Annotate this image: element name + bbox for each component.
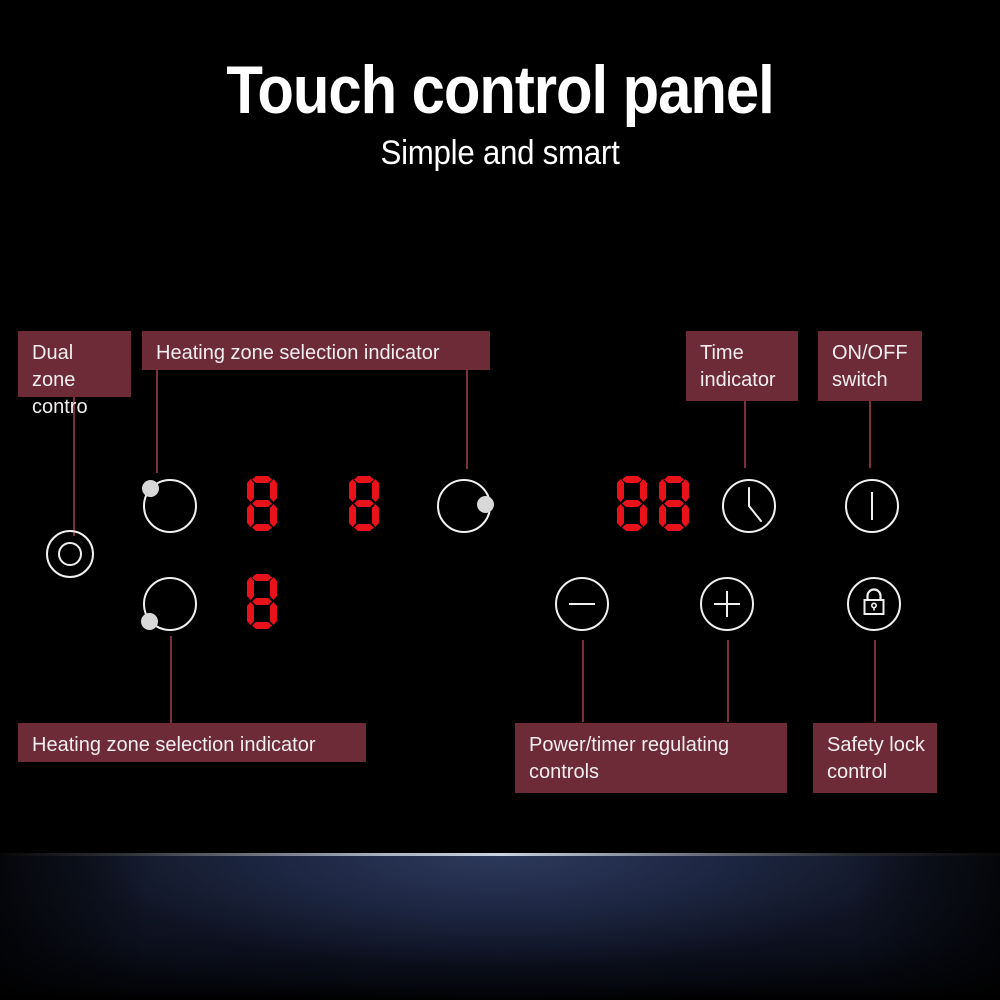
segment-f bbox=[617, 479, 624, 502]
timer-display: 88 bbox=[616, 476, 690, 530]
on-off-switch-button[interactable] bbox=[845, 479, 899, 533]
page-title: Touch control panel bbox=[60, 56, 940, 124]
cooktop-shade-right bbox=[850, 856, 1000, 1000]
label-heating-zone-top: Heating zone selection indicator bbox=[142, 331, 490, 370]
padlock-icon bbox=[847, 577, 901, 631]
segment-d bbox=[354, 524, 374, 531]
cooktop-shade-left bbox=[0, 856, 150, 1000]
dual-zone-control-button[interactable] bbox=[46, 530, 94, 578]
segment-a bbox=[252, 476, 272, 483]
leader-minus bbox=[582, 640, 584, 722]
segment-c bbox=[372, 504, 379, 527]
zone-display-3: 8 bbox=[246, 574, 278, 628]
segment-f bbox=[247, 479, 254, 502]
leader-plus bbox=[727, 640, 729, 722]
segment-b bbox=[270, 577, 277, 600]
leader-heating-top-right bbox=[466, 369, 468, 469]
segment-d bbox=[664, 524, 684, 531]
segment-b bbox=[640, 479, 647, 502]
timer-clock-button[interactable] bbox=[722, 479, 776, 533]
segment-f bbox=[659, 479, 666, 502]
increase-button[interactable] bbox=[700, 577, 754, 631]
label-heating-zone-bottom: Heating zone selection indicator bbox=[18, 723, 366, 762]
segment-f bbox=[349, 479, 356, 502]
leader-heating-bottom bbox=[170, 636, 172, 724]
segment-g bbox=[354, 500, 374, 507]
segment-g bbox=[664, 500, 684, 507]
segment-g bbox=[622, 500, 642, 507]
label-time-indicator: Time indicator bbox=[686, 331, 798, 401]
label-power-timer-controls: Power/timer regulating controls bbox=[515, 723, 787, 793]
segment-c bbox=[270, 504, 277, 527]
leader-safety-lock bbox=[874, 640, 876, 722]
timer-digit-2 bbox=[658, 476, 690, 530]
segment-a bbox=[354, 476, 374, 483]
page-subtitle: Simple and smart bbox=[40, 136, 960, 170]
zone-selection-dot bbox=[142, 480, 159, 497]
segment-a bbox=[622, 476, 642, 483]
plus-icon-vertical bbox=[726, 591, 728, 617]
power-bar-icon bbox=[871, 492, 873, 520]
segment-e bbox=[247, 602, 254, 625]
segment-f bbox=[247, 577, 254, 600]
segment-c bbox=[270, 602, 277, 625]
segment-e bbox=[659, 504, 666, 527]
segment-d bbox=[622, 524, 642, 531]
segment-c bbox=[640, 504, 647, 527]
clock-icon bbox=[722, 479, 776, 533]
segment-e bbox=[247, 504, 254, 527]
segment-e bbox=[349, 504, 356, 527]
label-dual-zone-control: Dual zone contro bbox=[18, 331, 131, 397]
zone-display-1: 8 bbox=[246, 476, 278, 530]
label-safety-lock-control: Safety lock control bbox=[813, 723, 937, 793]
segment-d bbox=[252, 524, 272, 531]
segment-e bbox=[617, 504, 624, 527]
label-on-off-switch: ON/OFF switch bbox=[818, 331, 922, 401]
segment-g bbox=[252, 500, 272, 507]
safety-lock-button[interactable] bbox=[847, 577, 901, 631]
leader-heating-top-left bbox=[156, 369, 158, 473]
segment-d bbox=[252, 622, 272, 629]
leader-time-indicator bbox=[744, 400, 746, 468]
segment-g bbox=[252, 598, 272, 605]
minus-icon bbox=[569, 603, 595, 605]
concentric-circles-inner-icon bbox=[58, 542, 82, 566]
segment-b bbox=[270, 479, 277, 502]
zone-selection-dot bbox=[477, 496, 494, 513]
segment-b bbox=[372, 479, 379, 502]
heating-zone-indicator-top[interactable] bbox=[143, 479, 197, 533]
heating-zone-indicator-bottom[interactable] bbox=[143, 577, 197, 631]
zone-selection-dot bbox=[141, 613, 158, 630]
decrease-button[interactable] bbox=[555, 577, 609, 631]
segment-a bbox=[664, 476, 684, 483]
timer-digit-1 bbox=[616, 476, 648, 530]
segment-c bbox=[682, 504, 689, 527]
leader-on-off bbox=[869, 400, 871, 468]
zone-display-2: 8 bbox=[348, 476, 380, 530]
touch-control-panel-infographic: Touch control panel Simple and smart Dua… bbox=[0, 0, 1000, 1000]
segment-a bbox=[252, 574, 272, 581]
segment-b bbox=[682, 479, 689, 502]
heating-zone-indicator-right[interactable] bbox=[437, 479, 491, 533]
